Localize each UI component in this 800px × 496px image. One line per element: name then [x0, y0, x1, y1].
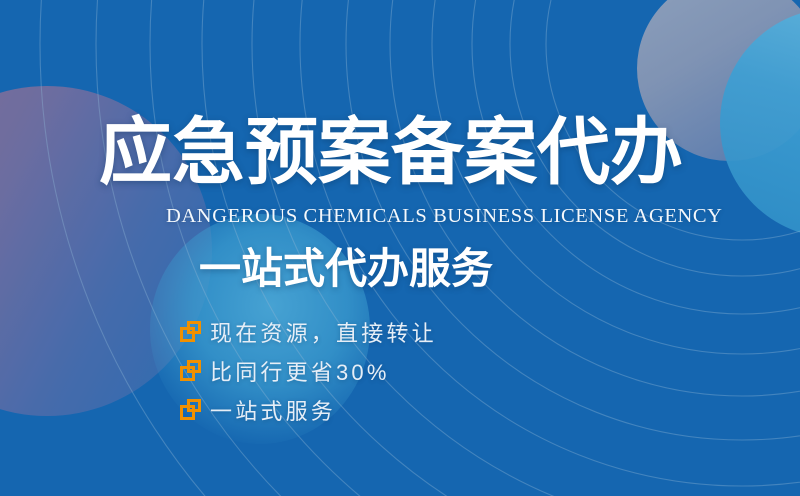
list-item: 现在资源，直接转让 — [180, 318, 437, 345]
list-item-label: 一站式服务 — [210, 394, 336, 426]
promo-banner: 应急预案备案代办 DANGEROUS CHEMICALS BUSINESS LI… — [0, 0, 800, 496]
list-item-label: 现在资源，直接转让 — [210, 316, 437, 348]
overlapping-squares-icon — [180, 399, 201, 420]
banner-content: 应急预案备案代办 DANGEROUS CHEMICALS BUSINESS LI… — [0, 0, 800, 496]
list-item: 一站式服务 — [180, 396, 437, 423]
feature-list: 现在资源，直接转让 比同行更省30% 一站式服务 — [180, 318, 437, 423]
list-item-label: 比同行更省30% — [210, 355, 390, 387]
page-title: 应急预案备案代办 — [99, 116, 683, 189]
english-subtitle: DANGEROUS CHEMICALS BUSINESS LICENSE AGE… — [166, 205, 723, 228]
overlapping-squares-icon — [180, 321, 201, 342]
service-subtitle: 一站式代办服务 — [199, 248, 493, 290]
overlapping-squares-icon — [180, 360, 201, 381]
list-item: 比同行更省30% — [180, 357, 437, 384]
